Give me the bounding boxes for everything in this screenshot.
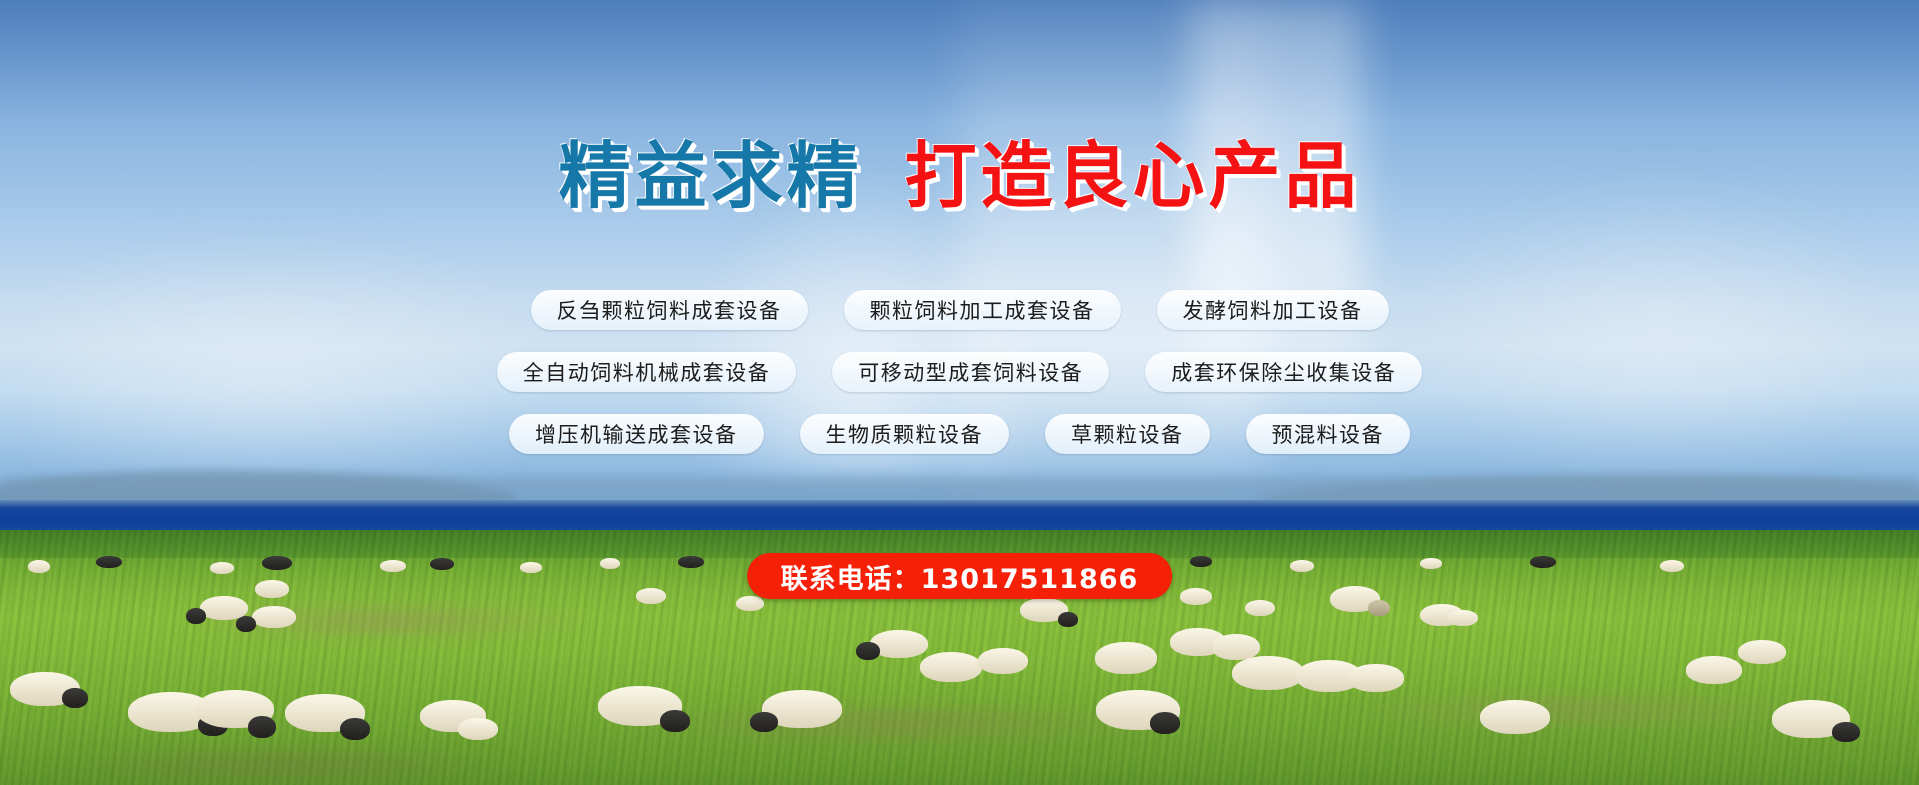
sheep (252, 606, 296, 628)
sheep-head (1058, 612, 1078, 627)
sheep (200, 596, 248, 620)
pill-fermented-feed-equipment[interactable]: 发酵饲料加工设备 (1157, 290, 1389, 330)
hero-banner: 精益求精打造良心产品 反刍颗粒饲料成套设备 颗粒饲料加工成套设备 发酵饲料加工设… (0, 0, 1919, 785)
sheep (1190, 556, 1212, 567)
sheep (1738, 640, 1786, 664)
sheep (262, 556, 292, 570)
sheep (1348, 664, 1404, 692)
sheep (96, 556, 122, 568)
sheep-head (1150, 712, 1180, 734)
pill-pellet-feed-processing-plant[interactable]: 颗粒饲料加工成套设备 (844, 290, 1121, 330)
sheep (1448, 610, 1478, 626)
sheep (430, 558, 454, 570)
sheep-head (248, 716, 276, 738)
sheep (636, 588, 666, 604)
sheep (1660, 560, 1684, 572)
sheep-head (660, 710, 690, 732)
sheep (1530, 556, 1556, 568)
headline-red: 打造良心产品 (905, 134, 1361, 218)
pill-ruminant-pellet-feed-plant[interactable]: 反刍颗粒饲料成套设备 (531, 290, 808, 330)
pill-booster-conveying-plant[interactable]: 增压机输送成套设备 (509, 414, 764, 454)
sheep (1095, 642, 1157, 674)
sheep (1212, 634, 1260, 660)
pill-premix-equipment[interactable]: 预混料设备 (1246, 414, 1411, 454)
sheep (1480, 700, 1550, 734)
sheep (600, 558, 620, 569)
sheep (380, 560, 406, 572)
sheep (1180, 588, 1212, 605)
sheep-head (856, 642, 880, 660)
sheep-head (236, 616, 256, 632)
pill-biomass-pellet-equipment[interactable]: 生物质颗粒设备 (800, 414, 1010, 454)
sheep (458, 718, 498, 740)
dirt-patch-3 (1320, 690, 1840, 730)
sheep (210, 562, 234, 574)
pill-row-1: 反刍颗粒饲料成套设备 颗粒饲料加工成套设备 发酵饲料加工设备 (0, 290, 1919, 330)
pill-dust-collection-equipment[interactable]: 成套环保除尘收集设备 (1145, 352, 1422, 392)
sheep (1245, 600, 1275, 616)
page-title: 精益求精打造良心产品 (0, 140, 1919, 212)
lake-shine (0, 500, 1919, 508)
headline-blue: 精益求精 (558, 134, 862, 218)
pill-row-2: 全自动饲料机械成套设备 可移动型成套饲料设备 成套环保除尘收集设备 (0, 352, 1919, 392)
sheep (1290, 560, 1314, 572)
sheep (736, 596, 764, 611)
sheep (28, 560, 50, 573)
pill-grass-pellet-equipment[interactable]: 草颗粒设备 (1045, 414, 1210, 454)
sheep (1686, 656, 1742, 684)
sheep (920, 652, 982, 682)
pill-automatic-feed-machinery-plant[interactable]: 全自动饲料机械成套设备 (497, 352, 797, 392)
product-category-list: 反刍颗粒饲料成套设备 颗粒饲料加工成套设备 发酵饲料加工设备 全自动饲料机械成套… (0, 290, 1919, 476)
sheep (978, 648, 1028, 674)
sheep-head (186, 608, 206, 624)
sheep-head (1832, 722, 1860, 742)
sheep-head (62, 688, 88, 708)
sheep (1420, 558, 1442, 569)
sheep-head (750, 712, 778, 732)
pill-mobile-feed-plant[interactable]: 可移动型成套饲料设备 (832, 352, 1109, 392)
sheep-head (1368, 600, 1390, 616)
pill-row-3: 增压机输送成套设备 生物质颗粒设备 草颗粒设备 预混料设备 (0, 414, 1919, 454)
sheep (520, 562, 542, 573)
sheep (1232, 656, 1304, 690)
contact-phone-badge[interactable]: 联系电话：13017511866 (747, 553, 1173, 599)
sheep-head (340, 718, 370, 740)
dirt-patch-4 (40, 745, 520, 785)
sheep (255, 580, 289, 598)
sheep (678, 556, 704, 568)
